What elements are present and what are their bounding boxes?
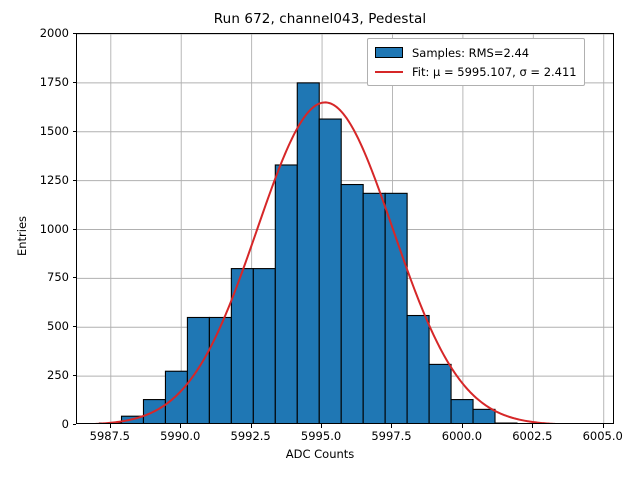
plot-axes: [76, 33, 614, 424]
histogram-bar: [495, 423, 517, 424]
histogram-bar: [407, 316, 429, 424]
y-tick-label: 2000: [40, 26, 69, 40]
x-tick-mark: [180, 424, 181, 428]
histogram-bar: [165, 371, 187, 424]
histogram-bar: [253, 269, 275, 424]
x-tick-mark: [603, 424, 604, 428]
y-tick-label: 1250: [40, 173, 69, 187]
x-tick-label: 6000.0: [442, 429, 482, 443]
histogram-bar: [341, 185, 363, 424]
y-tick-label: 500: [47, 319, 69, 333]
x-tick-label: 6005.0: [583, 429, 623, 443]
x-axis-label: ADC Counts: [0, 447, 640, 461]
figure-canvas: Run 672, channel043, Pedestal 5987.55990…: [0, 0, 640, 480]
y-tick-mark: [73, 33, 77, 34]
chart-title: Run 672, channel043, Pedestal: [0, 11, 640, 27]
legend-label-fit: Fit: μ = 5995.107, σ = 2.411: [412, 65, 577, 79]
x-tick-mark: [391, 424, 392, 428]
legend-item-samples: Samples: RMS=2.44: [375, 44, 577, 61]
histogram-bar: [473, 409, 495, 424]
y-tick-mark: [73, 82, 77, 83]
y-tick-mark: [73, 375, 77, 376]
x-tick-mark: [321, 424, 322, 428]
x-tick-label: 5997.5: [371, 429, 411, 443]
histogram-bar: [187, 317, 209, 424]
y-tick-mark: [73, 277, 77, 278]
legend-label-samples: Samples: RMS=2.44: [412, 46, 529, 60]
x-tick-label: 5995.0: [301, 429, 341, 443]
y-tick-label: 1750: [40, 75, 69, 89]
legend-box: Samples: RMS=2.44 Fit: μ = 5995.107, σ =…: [367, 38, 585, 86]
y-tick-mark: [73, 229, 77, 230]
legend-line-icon: [375, 71, 403, 73]
y-tick-mark: [73, 424, 77, 425]
y-tick-label: 1000: [40, 222, 69, 236]
x-tick-label: 5987.5: [90, 429, 130, 443]
histogram-bar: [385, 193, 407, 424]
plot-svg: [77, 34, 614, 424]
histogram-bar: [451, 400, 473, 424]
x-tick-mark: [110, 424, 111, 428]
histogram-bar: [297, 83, 319, 424]
histogram-bar: [429, 364, 451, 424]
y-tick-label: 250: [47, 368, 69, 382]
histogram-bar: [209, 317, 231, 424]
x-tick-mark: [462, 424, 463, 428]
x-tick-mark: [532, 424, 533, 428]
histogram-bars: [100, 83, 539, 424]
y-tick-mark: [73, 326, 77, 327]
x-tick-label: 6002.5: [512, 429, 552, 443]
y-tick-label: 750: [47, 270, 69, 284]
x-tick-label: 5992.5: [231, 429, 271, 443]
y-tick-mark: [73, 131, 77, 132]
y-tick-mark: [73, 180, 77, 181]
x-tick-mark: [251, 424, 252, 428]
histogram-bar: [363, 193, 385, 424]
y-tick-label: 1500: [40, 124, 69, 138]
y-axis-label: Entries: [15, 196, 29, 276]
x-tick-label: 5990.0: [160, 429, 200, 443]
legend-patch-icon: [375, 47, 403, 58]
histogram-bar: [319, 119, 341, 424]
legend-item-fit: Fit: μ = 5995.107, σ = 2.411: [375, 63, 577, 80]
y-tick-label: 0: [62, 417, 69, 431]
histogram-bar: [275, 165, 297, 424]
